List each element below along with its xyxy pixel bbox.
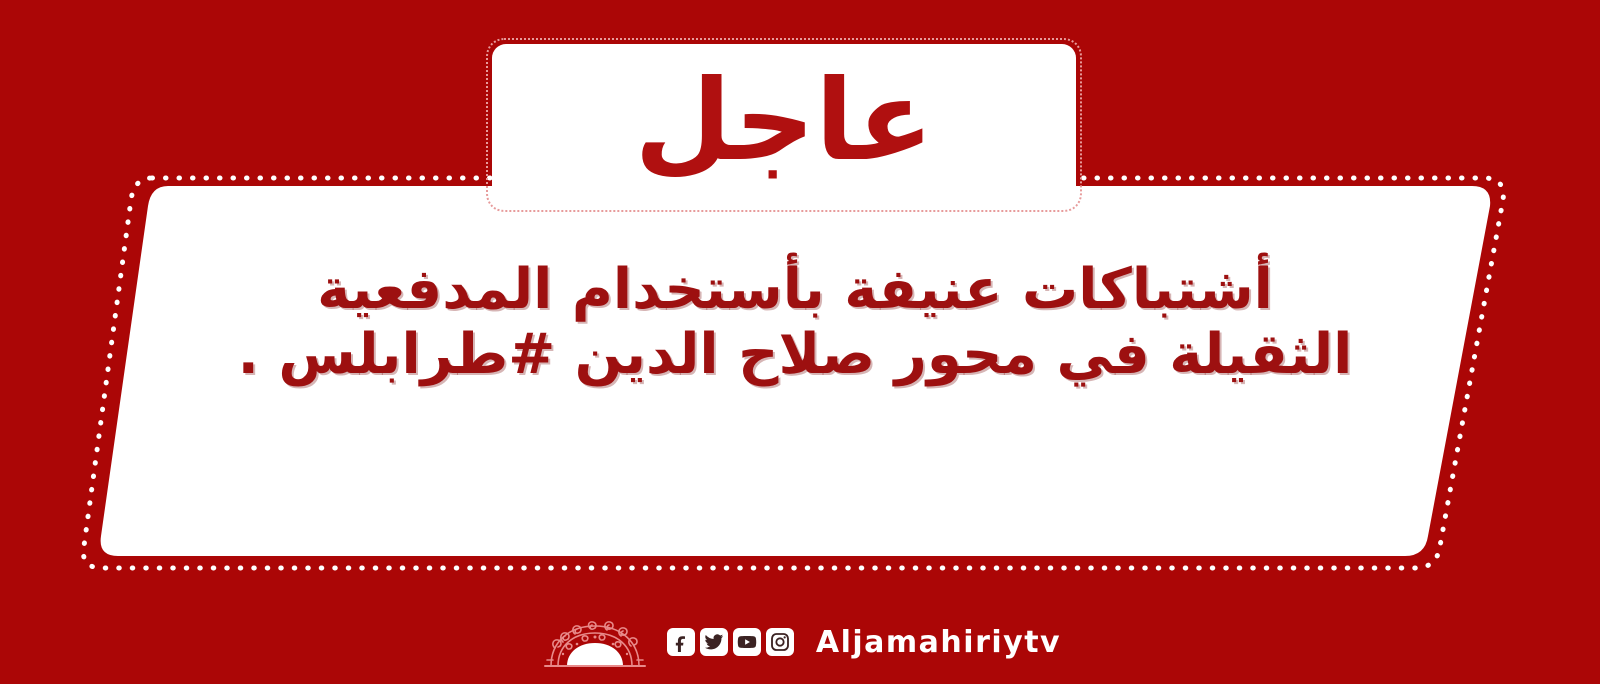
headline-line-1: أشتباكات عنيفة بأستخدام المدفعية xyxy=(200,258,1390,323)
instagram-icon[interactable] xyxy=(766,628,794,656)
breaking-badge-label: عاجل xyxy=(492,44,1076,206)
twitter-icon[interactable] xyxy=(700,628,728,656)
aljamahiriya-arch-logo xyxy=(539,616,651,668)
headline-line-2: الثقيلة في محور صلاح الدين #طرابلس . xyxy=(200,323,1390,388)
footer-bar: Aljamahiriytv xyxy=(0,612,1600,672)
breaking-badge: عاجل xyxy=(492,44,1076,206)
facebook-icon[interactable] xyxy=(667,628,695,656)
social-icons xyxy=(667,628,794,656)
brand-name: Aljamahiriytv xyxy=(816,625,1061,660)
youtube-icon[interactable] xyxy=(733,628,761,656)
headline: أشتباكات عنيفة بأستخدام المدفعية الثقيلة… xyxy=(200,258,1390,388)
breaking-news-card: عاجل أشتباكات عنيفة بأستخدام المدفعية ال… xyxy=(0,0,1600,684)
